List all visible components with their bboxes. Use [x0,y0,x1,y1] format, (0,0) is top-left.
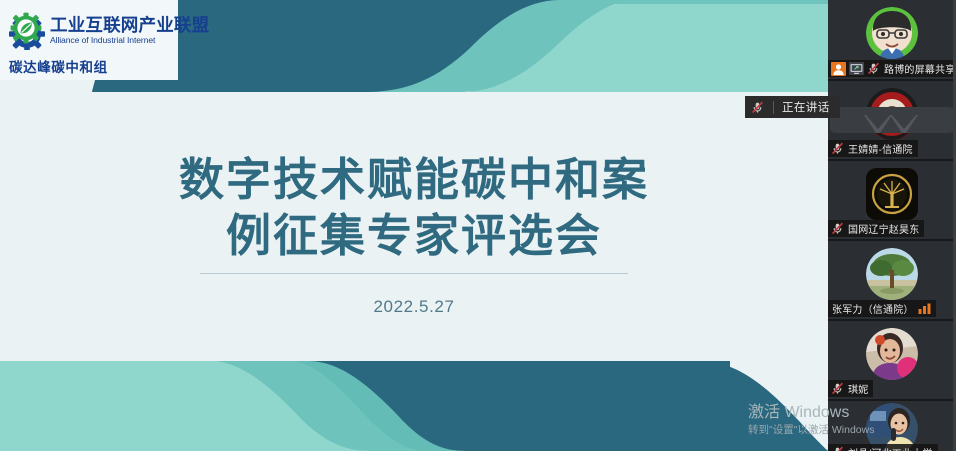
mic-muted-icon [751,101,764,114]
participant-name: 琪妮 [848,381,868,396]
logo-group-label: 碳达峰碳中和组 [9,56,108,76]
screen-share-icon [849,62,864,75]
participant-namebar: 路博的屏幕共享 [828,60,954,77]
speaking-indicator-banner: 正在讲话 [745,96,840,118]
logo-text: 工业互联网产业联盟 Alliance of Industrial Interne… [50,16,209,46]
participant-orange-icon [831,62,846,76]
participant-tile[interactable]: 张军力（信通院） [828,241,956,321]
participant-namebar: 张军力（信通院） [828,300,936,317]
logo-block: 工业互联网产业联盟 Alliance of Industrial Interne… [0,0,178,80]
mic-muted-icon [831,382,844,395]
logo-org-en: Alliance of Industrial Internet [50,35,209,46]
speaking-label: 正在讲话 [782,99,830,115]
bottom-wave-dark-teal [0,326,828,451]
participant-namebar: 国网辽宁赵昊东 [828,220,924,237]
participant-tile[interactable]: 王婧婧-信通院 [828,81,956,161]
logo-org-cn: 工业互联网产业联盟 [50,16,209,35]
banner-divider [773,101,774,114]
gold-tree-emblem-avatar [866,168,918,220]
participant-namebar: 琪妮 [828,380,873,397]
participant-name: 刘晶/河北工业大学 [848,445,933,451]
slide-title-line-1: 数字技术赋能碳中和案 [0,152,828,208]
participant-tile[interactable]: 刘晶/河北工业大学 [828,401,956,451]
slide-date: 2022.5.27 [0,297,828,317]
gear-leaf-logo-icon [8,12,46,50]
title-divider [200,273,628,274]
logo-row: 工业互联网产业联盟 Alliance of Industrial Interne… [8,12,209,50]
mic-muted-icon [831,142,844,155]
participant-name: 王婧婧-信通院 [848,141,913,156]
participant-namebar: 王婧婧-信通院 [828,140,918,157]
slide-title-line-2: 例征集专家评选会 [0,208,828,264]
mic-muted-icon [831,222,844,235]
participant-tile[interactable]: 琪妮 [828,321,956,401]
tree-photo-avatar [866,248,918,300]
participant-namebar: 刘晶/河北工业大学 [828,444,938,451]
participant-filmstrip[interactable]: 路博的屏幕共享 [828,0,956,451]
participant-name: 国网辽宁赵昊东 [848,221,919,236]
participant-name: 路博的屏幕共享 [884,61,955,76]
audio-level-bars-icon [918,303,931,314]
participant-tile[interactable]: 路博的屏幕共享 [828,0,956,81]
participant-name: 张军力（信通院） [832,301,914,316]
person-photo-avatar [866,328,918,380]
cartoon-avatar [866,7,918,59]
shared-screen-slide: 工业互联网产业联盟 Alliance of Industrial Interne… [0,0,828,451]
conference-screen: 工业互联网产业联盟 Alliance of Industrial Interne… [0,0,956,451]
slide-title: 数字技术赋能碳中和案 例征集专家评选会 [0,152,828,264]
mic-muted-icon [867,62,880,75]
mic-muted-icon [831,446,844,451]
chevron-watermark-icon [862,111,922,140]
participant-tile[interactable]: 国网辽宁赵昊东 [828,161,956,241]
